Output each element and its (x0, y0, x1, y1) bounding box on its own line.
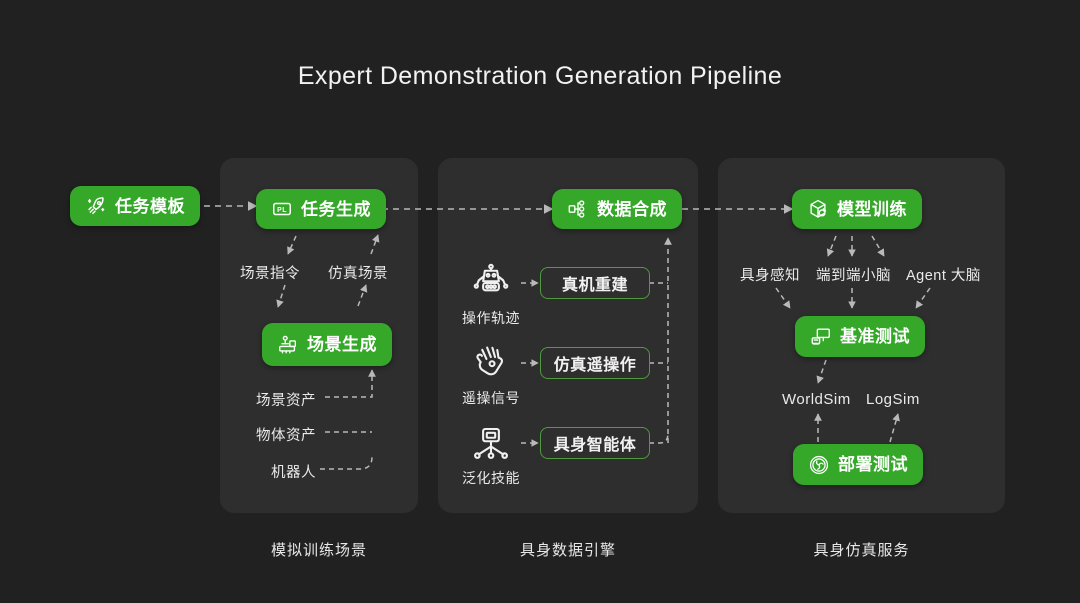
robot-arm-icon (277, 334, 299, 356)
label-scene-instruction: 场景指令 (240, 262, 300, 283)
label-operation-trajectory: 操作轨迹 (462, 308, 520, 328)
label-robot: 机器人 (271, 461, 316, 482)
node-model-training[interactable]: 模型训练 (792, 189, 922, 229)
caption-panel-2: 具身数据引擎 (438, 539, 698, 560)
rocket-icon (85, 195, 107, 217)
cube-refresh-icon (807, 198, 829, 220)
pl-frame-icon: PL (271, 198, 293, 220)
caption-panel-3: 具身仿真服务 (718, 539, 1005, 560)
data-sync-icon (567, 198, 589, 220)
node-label: 基准测试 (840, 328, 910, 345)
monitor-icon (810, 326, 832, 348)
label-scene-asset: 场景资产 (256, 389, 316, 410)
node-label: 模型训练 (837, 201, 907, 218)
node-label: 数据合成 (597, 201, 667, 218)
swirl-badge-icon (808, 454, 830, 476)
node-label: 任务模板 (115, 198, 185, 215)
box-real-machine-reconstruction[interactable]: 真机重建 (540, 267, 650, 299)
node-task-template[interactable]: 任务模板 (70, 186, 200, 226)
label-logsim: LogSim (866, 391, 920, 408)
node-label: 部署测试 (838, 456, 908, 473)
caption-panel-1: 模拟训练场景 (220, 539, 418, 560)
node-benchmark-test[interactable]: 基准测试 (795, 316, 925, 357)
node-label: 任务生成 (301, 201, 371, 218)
label-teleop-signal: 遥操信号 (462, 388, 520, 408)
glove-icon (470, 342, 512, 384)
page-title: Expert Demonstration Generation Pipeline (0, 62, 1080, 91)
node-scene-generation[interactable]: 场景生成 (262, 323, 392, 366)
svg-text:PL: PL (277, 207, 287, 214)
node-label: 场景生成 (307, 336, 377, 353)
node-data-synthesis[interactable]: 数据合成 (552, 189, 682, 229)
label-sim-scene: 仿真场景 (328, 262, 388, 283)
box-sim-teleoperation[interactable]: 仿真遥操作 (540, 347, 650, 379)
robot-icon (470, 262, 512, 304)
box-embodied-agent[interactable]: 具身智能体 (540, 427, 650, 459)
agent-icon (470, 422, 512, 464)
label-embodied-perception: 具身感知 (740, 264, 800, 285)
diagram-canvas: Expert Demonstration Generation Pipeline (0, 0, 1080, 603)
node-task-generation[interactable]: PL 任务生成 (256, 189, 386, 229)
label-end-to-end-cerebellum: 端到端小脑 (816, 264, 891, 285)
label-worldsim: WorldSim (782, 391, 851, 408)
label-generalized-skill: 泛化技能 (462, 468, 520, 488)
node-deployment-test[interactable]: 部署测试 (793, 444, 923, 485)
label-object-asset: 物体资产 (256, 424, 316, 445)
label-agent-brain: Agent 大脑 (906, 264, 981, 285)
